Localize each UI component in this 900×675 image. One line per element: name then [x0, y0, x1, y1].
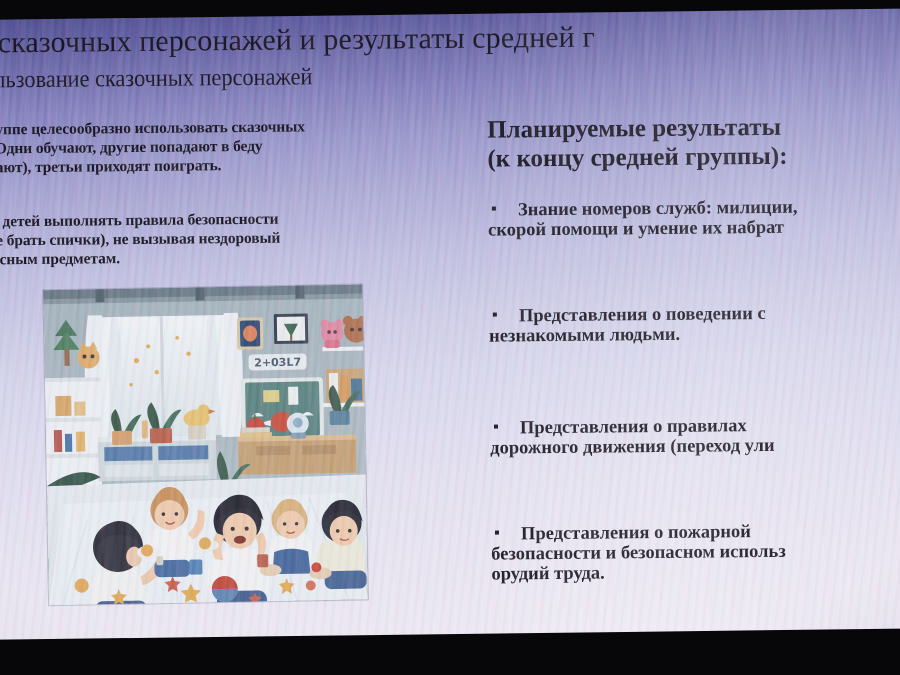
- result-bullet-4: Представления о пожарной безопасности и …: [491, 520, 900, 585]
- result-bullet-2-line-2: незнакомыми людьми.: [489, 322, 900, 347]
- bullet-marker-icon: [492, 207, 496, 211]
- children-playing-illustration: 2+03L7: [43, 284, 368, 605]
- slide-title-block: ль сказочных персонажей и результаты сре…: [0, 17, 900, 95]
- photographed-screen: ль сказочных персонажей и результаты сре…: [0, 0, 900, 675]
- bullet-marker-icon: [495, 531, 499, 535]
- result-bullet-1-line-2: скорой помощи и умение их набрат: [488, 216, 900, 241]
- result-bullet-1: Знание номеров служб: милиции, скорой по…: [488, 196, 900, 241]
- slide-title-line-2: спользование сказочных персонажей: [0, 57, 882, 96]
- result-bullet-4-line-3: орудий труда.: [491, 560, 900, 585]
- classroom-illustration-image: 2+03L7: [43, 284, 368, 605]
- bullet-marker-icon: [493, 313, 497, 317]
- planned-results-heading-line-1: Планируемые результаты: [487, 111, 900, 145]
- left-text-column: дней группе целесообразно использовать с…: [0, 116, 465, 270]
- left-paragraph-1: дней группе целесообразно использовать с…: [0, 116, 465, 178]
- result-bullet-3-line-2: дорожного движения (переход ули: [490, 434, 900, 459]
- result-bullet-2: Представления о поведении с незнакомыми …: [489, 302, 900, 347]
- bullet-marker-icon: [494, 425, 498, 429]
- presentation-slide: ль сказочных персонажей и результаты сре…: [0, 4, 900, 647]
- planned-results-heading: Планируемые результаты (к концу средней …: [487, 111, 900, 174]
- slide-content: ль сказочных персонажей и результаты сре…: [0, 4, 900, 647]
- result-bullet-3: Представления о правилах дорожного движе…: [490, 414, 900, 459]
- right-text-column: Планируемые результаты (к концу средней …: [487, 111, 900, 584]
- left-paragraph-1-line-3: их обучают), третьи приходят поиграть.: [0, 154, 465, 178]
- left-paragraph-2: убедить детей выполнять правила безопасн…: [0, 208, 465, 270]
- planned-results-heading-line-2: (к концу средней группы):: [487, 140, 900, 174]
- left-paragraph-2-line-3: ес к опасным предметам.: [0, 246, 465, 270]
- slide-title-line-1: ль сказочных персонажей и результаты сре…: [0, 17, 900, 60]
